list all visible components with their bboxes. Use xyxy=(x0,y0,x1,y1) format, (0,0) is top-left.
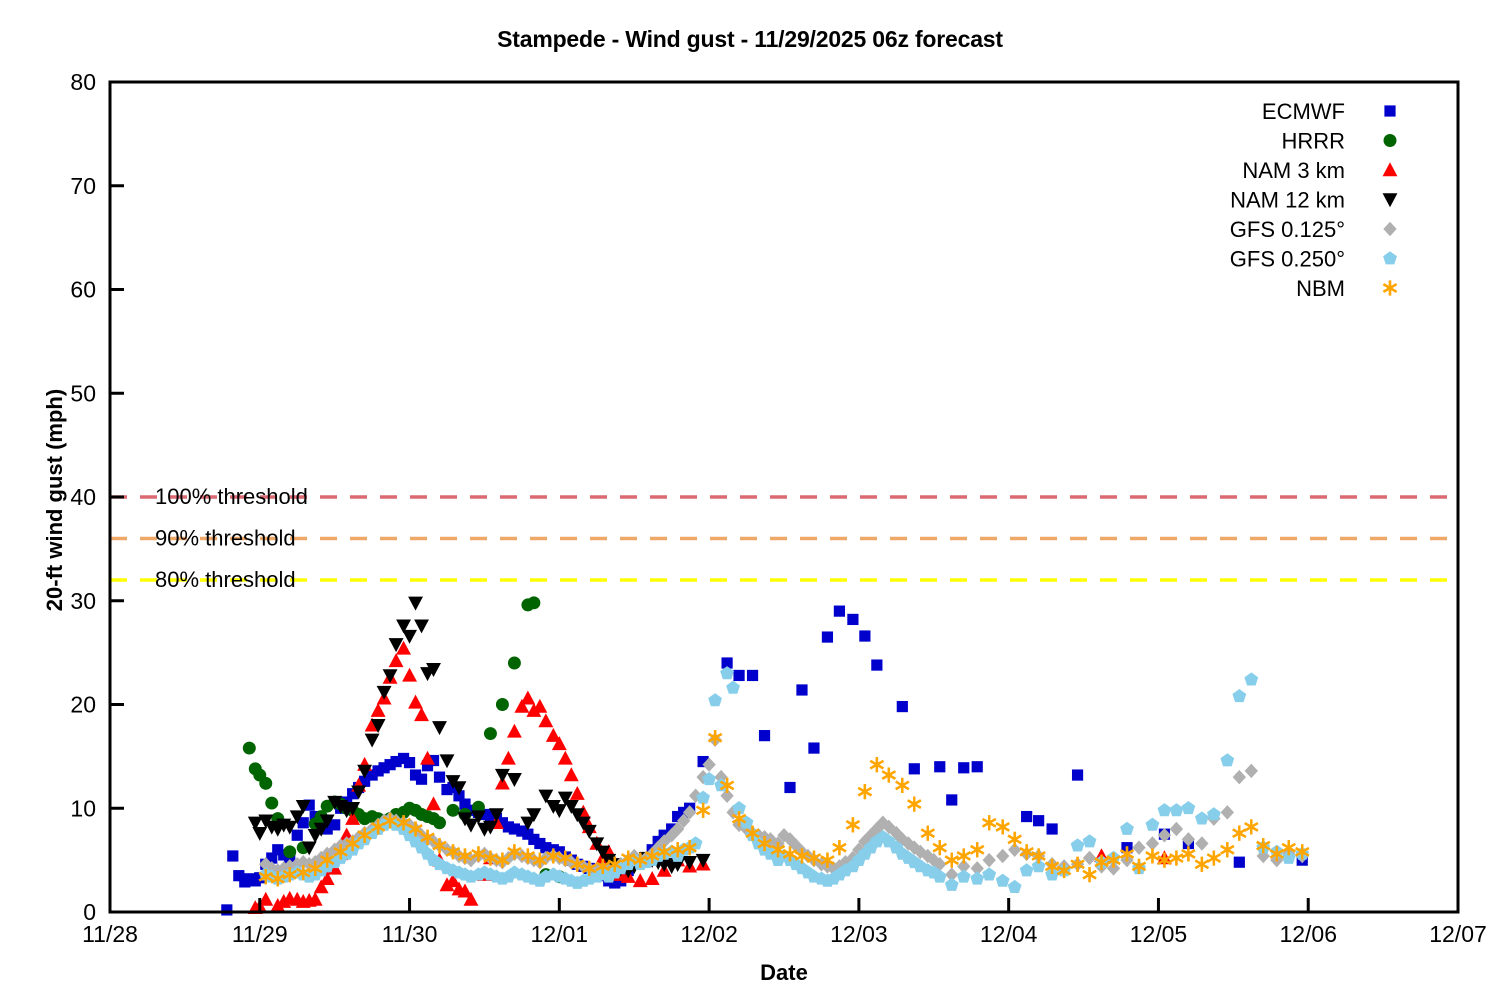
data-point xyxy=(495,769,510,783)
data-point xyxy=(1244,672,1258,685)
data-point xyxy=(645,871,660,885)
chart-legend: ECMWFHRRRNAM 3 kmNAM 12 kmGFS 0.125°GFS … xyxy=(1230,99,1398,301)
data-point xyxy=(1170,850,1183,865)
data-point xyxy=(1033,815,1044,826)
data-point xyxy=(972,761,983,772)
data-point xyxy=(982,867,996,880)
data-point xyxy=(1071,838,1085,851)
data-point xyxy=(682,856,697,870)
data-point xyxy=(221,904,232,915)
data-point xyxy=(1245,764,1258,779)
series-hrrr xyxy=(243,596,566,883)
data-point xyxy=(933,840,946,855)
data-point xyxy=(1221,805,1234,820)
x-tick-label: 12/01 xyxy=(531,921,589,947)
legend-label-0: ECMWF xyxy=(1262,99,1345,124)
data-point xyxy=(1047,823,1058,834)
y-tick-label: 40 xyxy=(70,484,96,510)
data-point xyxy=(1158,803,1172,816)
y-tick-label: 20 xyxy=(70,692,96,718)
scatter-plot: 0102030405060708011/2811/2911/3012/0112/… xyxy=(0,0,1500,1000)
x-tick-label: 11/28 xyxy=(82,921,138,947)
data-point xyxy=(292,830,303,841)
series-nam-12-km xyxy=(248,597,711,879)
y-tick-label: 30 xyxy=(70,588,96,614)
data-point xyxy=(496,698,509,711)
data-point xyxy=(227,850,238,861)
data-point xyxy=(1245,819,1258,834)
data-point xyxy=(921,826,934,841)
data-point xyxy=(970,872,984,885)
data-point xyxy=(416,774,427,785)
data-point xyxy=(402,668,417,682)
x-tick-label: 12/04 xyxy=(980,921,1038,947)
data-point xyxy=(858,784,871,799)
y-tick-label: 70 xyxy=(70,173,96,199)
data-point xyxy=(697,803,710,818)
data-points-group xyxy=(221,596,1309,915)
data-point xyxy=(1232,689,1246,702)
data-point xyxy=(259,777,272,790)
data-point xyxy=(847,614,858,625)
data-point xyxy=(507,724,522,738)
data-point xyxy=(447,804,460,817)
data-point xyxy=(708,693,722,706)
data-point xyxy=(484,727,497,740)
data-point xyxy=(520,691,535,705)
data-point xyxy=(564,767,579,781)
data-point xyxy=(1170,822,1183,837)
data-point xyxy=(859,630,870,641)
data-point xyxy=(440,754,455,768)
data-point xyxy=(402,630,417,644)
data-point xyxy=(796,684,807,695)
x-tick-label: 12/07 xyxy=(1429,921,1487,947)
data-point xyxy=(1220,753,1234,766)
legend-label-3: NAM 12 km xyxy=(1230,188,1345,213)
data-point xyxy=(747,670,758,681)
y-tick-label: 60 xyxy=(70,277,96,303)
data-point xyxy=(696,854,711,868)
data-point xyxy=(1234,857,1245,868)
data-point xyxy=(897,701,908,712)
data-point xyxy=(570,786,585,800)
data-point xyxy=(1132,840,1145,855)
data-point xyxy=(957,848,970,863)
threshold-label-2: 80% threshold xyxy=(155,567,296,592)
x-tick-label: 12/02 xyxy=(680,921,738,947)
data-point xyxy=(1008,832,1021,847)
data-point xyxy=(507,773,522,787)
threshold-labels-group: 100% threshold90% threshold80% threshold xyxy=(155,484,308,592)
data-point xyxy=(558,751,573,765)
data-point xyxy=(1008,880,1022,893)
data-point xyxy=(870,757,883,772)
data-point xyxy=(1020,863,1034,876)
data-point xyxy=(1195,857,1208,872)
legend-marker-2 xyxy=(1383,162,1398,176)
data-point xyxy=(846,817,859,832)
data-point xyxy=(945,878,959,891)
data-point xyxy=(759,730,770,741)
y-tick-label: 80 xyxy=(70,69,96,95)
data-point xyxy=(996,849,1009,864)
x-tick-label: 12/05 xyxy=(1130,921,1188,947)
data-point xyxy=(464,819,479,833)
data-point xyxy=(377,686,392,700)
data-point xyxy=(1233,770,1246,785)
data-point xyxy=(243,742,256,755)
y-tick-label: 50 xyxy=(70,380,96,406)
legend-marker-3 xyxy=(1383,193,1398,207)
data-point xyxy=(265,797,278,810)
data-point xyxy=(1146,848,1159,863)
data-point xyxy=(432,721,447,735)
data-point xyxy=(833,840,846,855)
data-point xyxy=(784,782,795,793)
data-point xyxy=(1195,836,1208,851)
data-point xyxy=(426,796,441,810)
data-point xyxy=(1083,834,1097,847)
data-point xyxy=(983,815,996,830)
x-tick-label: 11/30 xyxy=(382,921,438,947)
data-point xyxy=(404,757,415,768)
data-point xyxy=(527,596,540,609)
data-point xyxy=(726,681,740,694)
data-point xyxy=(971,842,984,857)
data-point xyxy=(808,742,819,753)
data-point xyxy=(909,763,920,774)
data-point xyxy=(996,874,1010,887)
data-point xyxy=(414,619,429,633)
data-point xyxy=(538,713,553,727)
data-point xyxy=(389,653,404,667)
data-point xyxy=(996,819,1009,834)
data-point xyxy=(1221,842,1234,857)
legend-marker-1 xyxy=(1384,134,1397,147)
threshold-lines-group xyxy=(110,497,1458,580)
data-point xyxy=(501,751,516,765)
x-tick-label: 11/29 xyxy=(232,921,288,947)
data-point xyxy=(1146,818,1160,831)
legend-marker-4 xyxy=(1383,222,1396,237)
data-point xyxy=(983,853,996,868)
legend-marker-5 xyxy=(1383,251,1397,264)
data-point xyxy=(946,794,957,805)
data-point xyxy=(1207,807,1221,820)
data-point xyxy=(434,772,445,783)
data-point xyxy=(433,816,446,829)
y-tick-label: 10 xyxy=(70,795,96,821)
threshold-label-0: 100% threshold xyxy=(155,484,308,509)
data-point xyxy=(871,659,882,670)
x-tick-label: 12/03 xyxy=(830,921,888,947)
data-point xyxy=(365,734,380,748)
data-point xyxy=(1170,803,1184,816)
data-point xyxy=(1072,769,1083,780)
data-point xyxy=(945,853,958,868)
data-point xyxy=(1021,811,1032,822)
legend-label-2: NAM 3 km xyxy=(1242,158,1345,183)
data-point xyxy=(1207,850,1220,865)
data-point xyxy=(1083,867,1096,882)
legend-marker-0 xyxy=(1384,105,1395,116)
data-point xyxy=(1233,826,1246,841)
data-point xyxy=(958,762,969,773)
data-point xyxy=(283,845,296,858)
data-point xyxy=(934,761,945,772)
data-point xyxy=(371,703,386,717)
data-point xyxy=(508,657,521,670)
data-point xyxy=(1182,801,1196,814)
data-point xyxy=(1120,822,1134,835)
data-point xyxy=(252,827,267,841)
data-point xyxy=(834,606,845,617)
data-point xyxy=(822,631,833,642)
data-point xyxy=(408,695,423,709)
data-point xyxy=(882,767,895,782)
legend-label-5: GFS 0.250° xyxy=(1230,247,1345,272)
threshold-label-1: 90% threshold xyxy=(155,526,296,551)
data-point xyxy=(957,869,971,882)
legend-label-4: GFS 0.125° xyxy=(1230,217,1345,242)
data-point xyxy=(408,597,423,611)
data-point xyxy=(414,707,429,721)
legend-label-6: NBM xyxy=(1296,276,1345,301)
data-point xyxy=(896,778,909,793)
wind-gust-chart-page: Stampede - Wind gust - 11/29/2025 06z fo… xyxy=(0,0,1500,1000)
data-point xyxy=(1083,851,1096,866)
data-point xyxy=(908,797,921,812)
x-tick-label: 12/06 xyxy=(1279,921,1337,947)
legend-marker-6 xyxy=(1383,280,1396,295)
data-point xyxy=(733,670,744,681)
legend-label-1: HRRR xyxy=(1281,129,1345,154)
data-point xyxy=(1195,811,1209,824)
